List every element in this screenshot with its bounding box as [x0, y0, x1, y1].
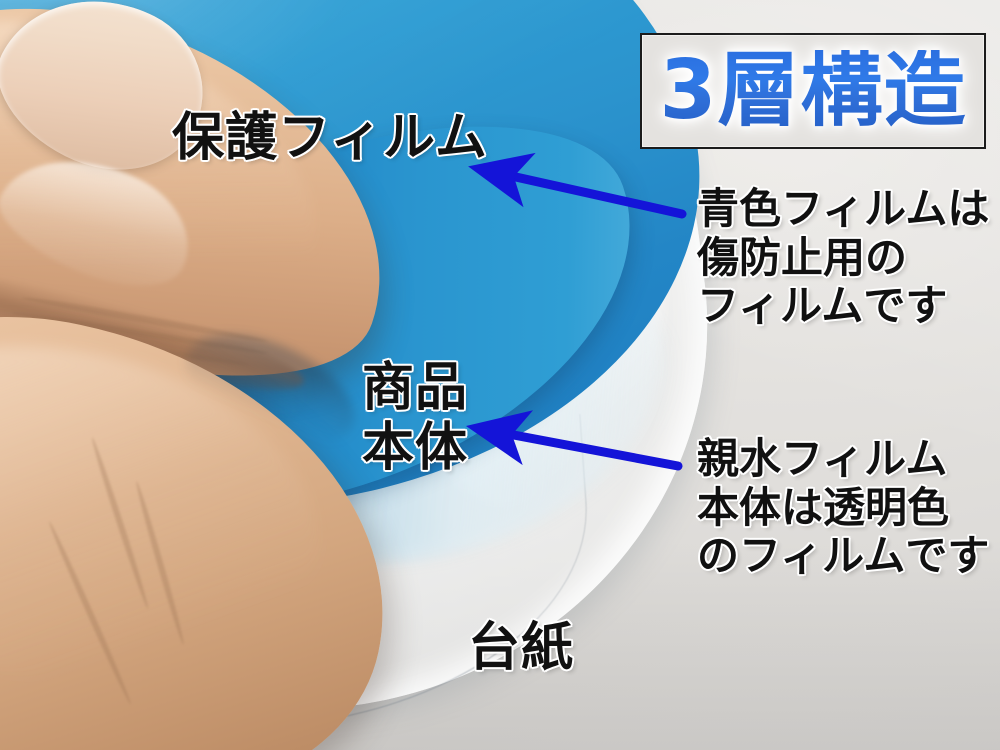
- note-clear-film-line2: 本体は透明色: [697, 483, 949, 532]
- label-protective-film: 保護フィルム: [172, 108, 488, 168]
- note-clear-film-line3: のフィルムです: [697, 531, 989, 580]
- label-product-body-line2: 本体: [362, 418, 468, 478]
- note-clear-film: 親水フィルム本体は透明色のフィルムです: [697, 435, 989, 581]
- note-clear-film-line1: 親水フィルム: [697, 434, 947, 483]
- title-badge: 3層構造: [640, 33, 986, 149]
- product-photo-infographic: 3層構造 保護フィルム 商品本体 台紙 青色フィルムは傷防止用のフィルムです 親…: [0, 0, 1000, 750]
- label-backing-paper: 台紙: [468, 618, 574, 678]
- label-product-body: 商品本体: [362, 358, 468, 479]
- note-blue-film-line2: 傷防止用の: [697, 233, 907, 282]
- badge-title-text: 3層構造: [659, 50, 966, 132]
- label-product-body-line1: 商品: [362, 358, 468, 418]
- note-blue-film-line3: フィルムです: [697, 281, 947, 330]
- note-blue-film: 青色フィルムは傷防止用のフィルムです: [697, 185, 989, 331]
- note-blue-film-line1: 青色フィルムは: [697, 184, 989, 233]
